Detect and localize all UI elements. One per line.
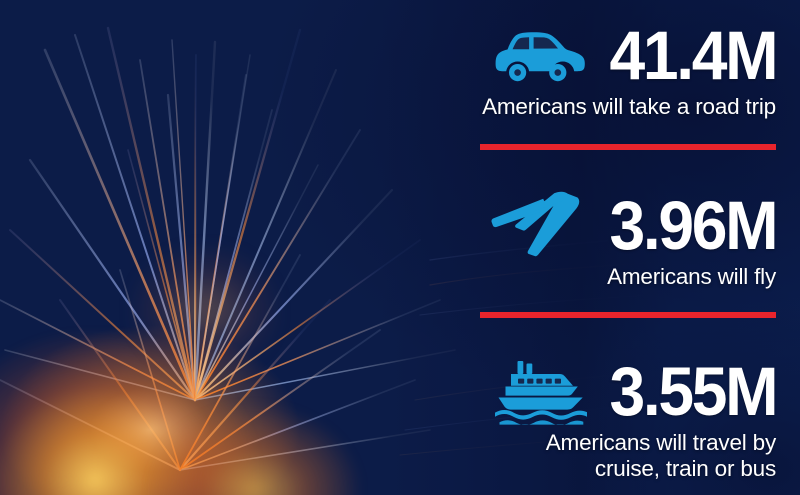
- airplane-icon: [491, 191, 587, 261]
- stat-headline: 3.55M: [356, 358, 776, 426]
- cruise-ship-icon: [495, 359, 587, 425]
- divider-one: [480, 144, 776, 150]
- stat-headline: 3.96M: [356, 192, 776, 260]
- stat-value: 41.4M: [609, 24, 776, 87]
- stat-caption: Americans will travel by cruise, train o…: [356, 430, 776, 482]
- stat-air-travel: 3.96M Americans will fly: [356, 192, 776, 290]
- caption-line: Americans will fly: [356, 264, 776, 290]
- stat-cruise-train-bus: 3.55M Americans will travel by cruise, t…: [356, 358, 776, 482]
- stat-headline: 41.4M: [356, 22, 776, 90]
- caption-line: cruise, train or bus: [356, 456, 776, 482]
- stat-caption: Americans will take a road trip: [356, 94, 776, 120]
- caption-line: Americans will take a road trip: [356, 94, 776, 120]
- caption-line: Americans will travel by: [356, 430, 776, 456]
- stat-caption: Americans will fly: [356, 264, 776, 290]
- stat-value: 3.55M: [609, 360, 776, 423]
- car-icon: [495, 28, 587, 84]
- stats-content: 41.4M Americans will take a road trip: [0, 0, 800, 495]
- stat-value: 3.96M: [609, 194, 776, 257]
- divider-two: [480, 312, 776, 318]
- stat-road-trip: 41.4M Americans will take a road trip: [356, 22, 776, 120]
- infographic-canvas: 41.4M Americans will take a road trip: [0, 0, 800, 495]
